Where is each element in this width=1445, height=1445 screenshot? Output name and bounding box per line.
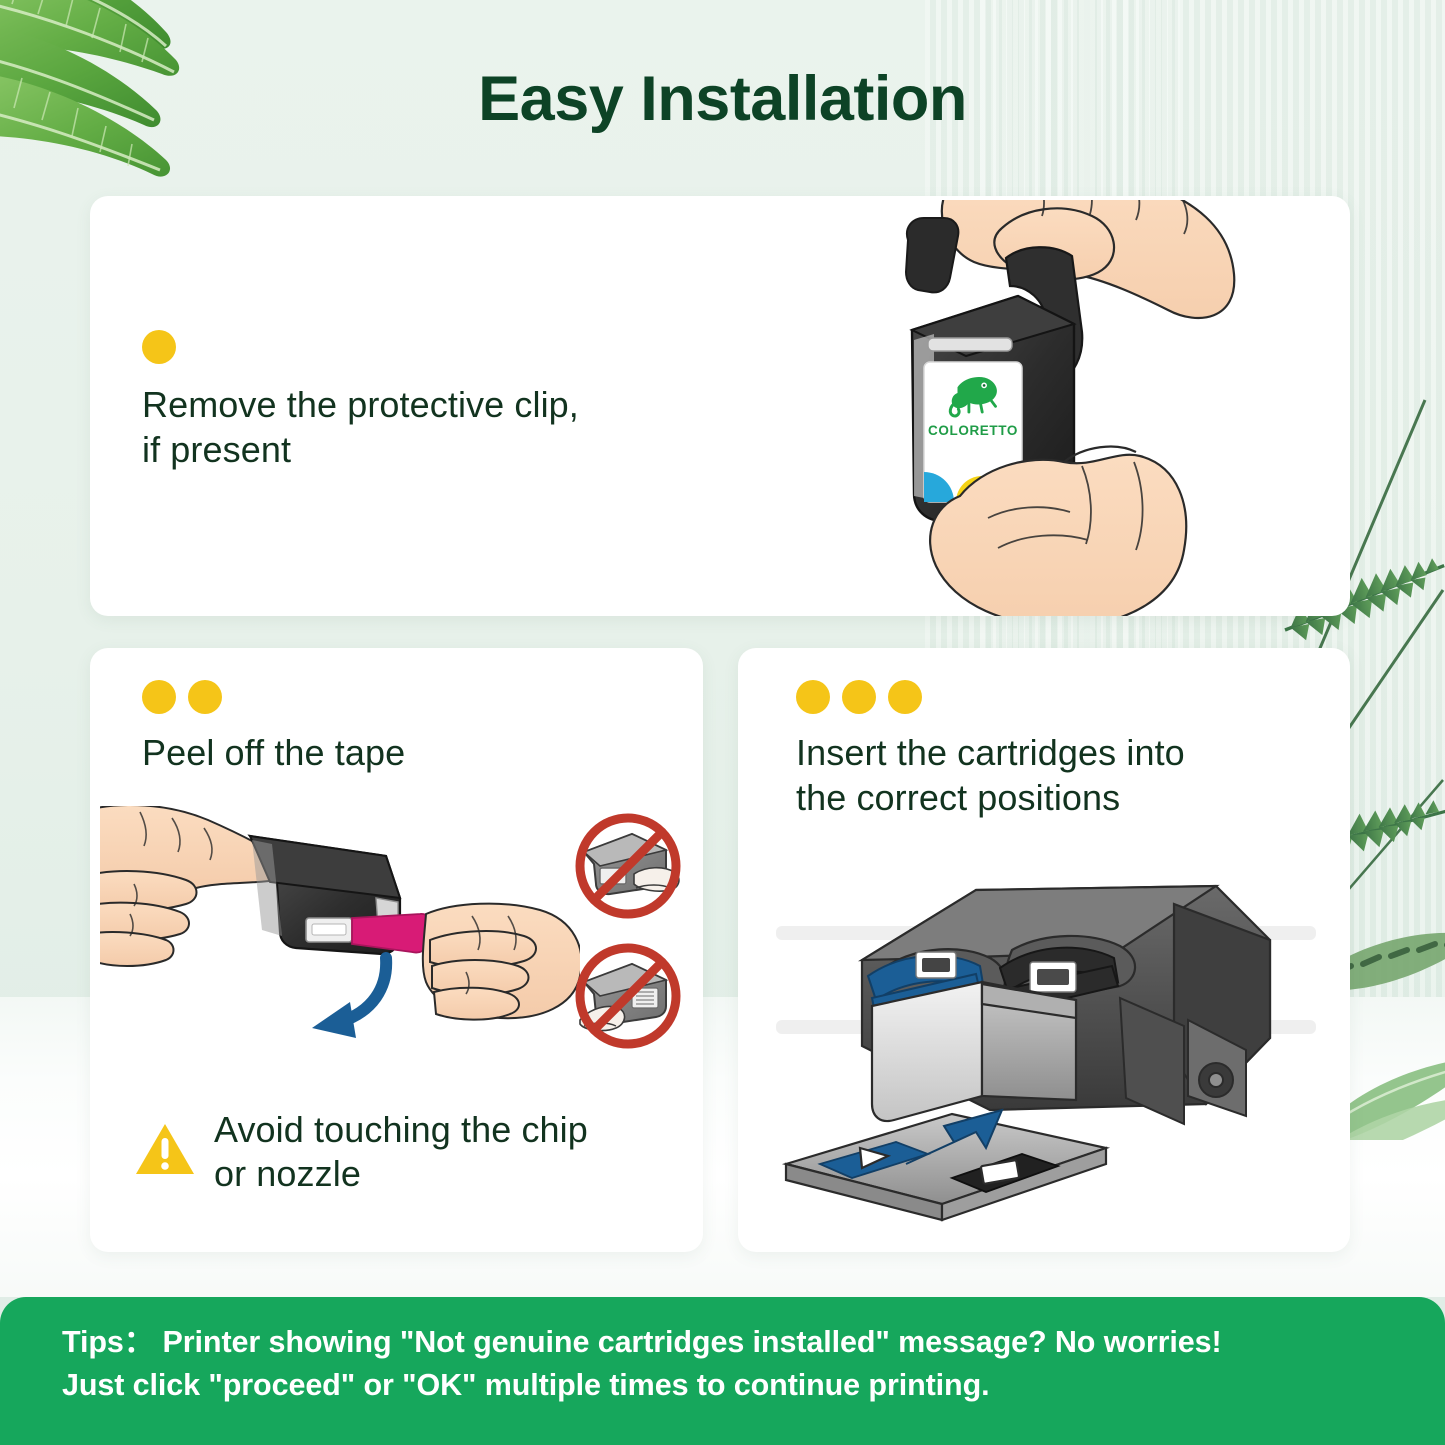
warning-note: Avoid touching the chip or nozzle: [134, 1108, 674, 1196]
step-card-1: Remove the protective clip, if present: [90, 196, 1350, 616]
tips-line-2: Just click "proceed" or "OK" multiple ti…: [62, 1364, 1405, 1407]
step-3-text-line-2: the correct positions: [796, 775, 1296, 820]
warning-text: Avoid touching the chip or nozzle: [214, 1108, 588, 1196]
step-1-text: Remove the protective clip, if present: [142, 382, 702, 472]
step-1-text-line-1: Remove the protective clip,: [142, 382, 702, 427]
cartridge-brand-label: COLORETTO: [928, 423, 1018, 438]
step-3-dots: [796, 680, 922, 714]
step-dot: [142, 680, 176, 714]
tips-line-1: Tips： Printer showing "Not genuine cartr…: [62, 1321, 1405, 1364]
step-3-text: Insert the cartridges into the correct p…: [796, 730, 1296, 820]
step-dot: [796, 680, 830, 714]
page-title: Easy Installation: [0, 68, 1445, 131]
no-touch-nozzle-icon: [580, 948, 676, 1044]
step-2-text: Peel off the tape: [142, 730, 662, 775]
step-dot: [142, 330, 176, 364]
warning-triangle-icon: [134, 1122, 196, 1183]
step-3-text-line-1: Insert the cartridges into: [796, 730, 1296, 775]
step-card-2: Peel off the tape: [90, 648, 703, 1252]
prohibition-icons: [558, 808, 698, 1058]
step-dot: [888, 680, 922, 714]
tips-banner: Tips： Printer showing "Not genuine cartr…: [0, 1297, 1445, 1445]
step-1-text-line-2: if present: [142, 427, 702, 472]
no-touch-chip-icon: [580, 818, 679, 914]
warning-text-line-2: or nozzle: [214, 1153, 361, 1194]
peel-direction-arrow: [312, 958, 386, 1038]
step-dot: [188, 680, 222, 714]
step-card-3: Insert the cartridges into the correct p…: [738, 648, 1350, 1252]
illustration-remove-clip: COLORETTO: [878, 200, 1238, 616]
step-dot: [842, 680, 876, 714]
step-2-dots: [142, 680, 222, 714]
illustration-printer-carriage: [776, 848, 1316, 1238]
step-1-dots: [142, 330, 176, 364]
warning-text-line-1: Avoid touching the chip: [214, 1109, 588, 1150]
illustration-peel-tape: [100, 806, 580, 1056]
